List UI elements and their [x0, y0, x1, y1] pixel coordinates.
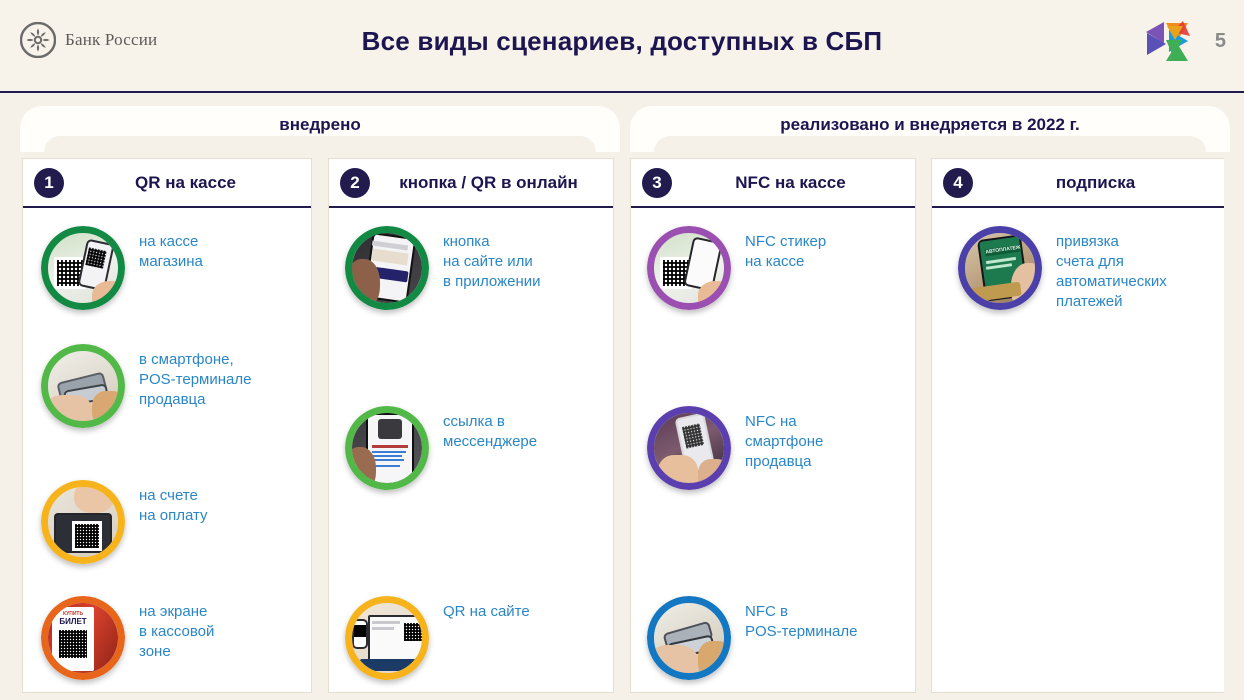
list-item-label: NFC в POS-терминале — [745, 602, 857, 642]
scenario-thumbnail-merchant-phone-nfc-tap — [647, 406, 731, 490]
list-item[interactable]: на кассе магазина — [41, 226, 203, 310]
list-item-label: привязка счета для автоматических платеж… — [1056, 232, 1167, 312]
group-label-inprogress: реализовано и внедряется в 2022 г. — [630, 112, 1230, 138]
group-label-implemented: внедрено — [20, 112, 620, 138]
list-item-label: на кассе магазина — [139, 232, 203, 272]
list-item-label: в смартфоне, POS-терминале продавца — [139, 350, 251, 410]
list-item[interactable]: в смартфоне, POS-терминале продавца — [41, 344, 251, 428]
scenario-card-nfc-at-checkout[interactable]: 3 NFC на кассе NFC стикер на кассе — [630, 158, 916, 693]
scenario-card-button-qr-online[interactable]: 2 кнопка / QR в онлайн — [328, 158, 614, 693]
scenario-thumbnail-pos-terminal-nfc-payment — [647, 596, 731, 680]
scenario-thumbnail-qr-code-on-paper-invoice — [41, 480, 125, 564]
page-title: Все виды сценариев, доступных в СБП — [0, 26, 1244, 57]
list-item[interactable]: NFC на смартфоне продавца — [647, 406, 823, 490]
list-item[interactable]: кнопка на сайте или в приложении — [345, 226, 541, 310]
card-title: QR на кассе — [64, 173, 311, 193]
list-item[interactable]: NFC в POS-терминале — [647, 596, 857, 680]
scenario-thumbnail-phone-and-pos-terminal-in-hands — [41, 344, 125, 428]
list-item[interactable]: ссылка в мессенджере — [345, 406, 537, 490]
list-item[interactable]: NFC стикер на кассе — [647, 226, 826, 310]
card-title: NFC на кассе — [672, 173, 915, 193]
card-number-badge: 1 — [34, 168, 64, 198]
header-divider — [0, 91, 1244, 93]
list-item[interactable]: QR на сайте — [345, 596, 530, 680]
card-title: кнопка / QR в онлайн — [370, 173, 613, 193]
card-number-badge: 3 — [642, 168, 672, 198]
list-item-label: NFC на смартфоне продавца — [745, 412, 823, 472]
scenario-thumbnail-phone-with-payment-link-in-messenger — [345, 406, 429, 490]
card-body: кнопка на сайте или в приложении — [329, 208, 613, 694]
list-item[interactable]: КУПИТЬ БИЛЕТ на экране в кассовой зоне — [41, 596, 214, 680]
card-number-badge: 4 — [943, 168, 973, 198]
scenario-thumbnail-buy-ticket-kiosk-screen-with-qr: КУПИТЬ БИЛЕТ — [41, 596, 125, 680]
list-item-label: NFC стикер на кассе — [745, 232, 826, 272]
card-body: на кассе магазина — [23, 208, 311, 694]
scenario-thumbnail-laptop-website-with-qr-code — [345, 596, 429, 680]
list-item-label: ссылка в мессенджере — [443, 412, 537, 452]
card-title: подписка — [973, 173, 1224, 193]
card-body: NFC стикер на кассе NFC на смартф — [631, 208, 915, 694]
list-item[interactable]: АВТОПЛАТЕЖ привязка счета для автоматиче… — [958, 226, 1167, 312]
slide-header: Банк России Все виды сценариев, доступны… — [0, 0, 1244, 92]
list-item-label: на экране в кассовой зоне — [139, 602, 214, 662]
list-item[interactable]: на счете на оплату — [41, 480, 208, 564]
card-number-badge: 2 — [340, 168, 370, 198]
card-header: 4 подписка — [932, 159, 1224, 208]
page-number: 5 — [1215, 30, 1226, 53]
slide-root: Банк России Все виды сценариев, доступны… — [0, 0, 1244, 700]
scenario-card-subscription[interactable]: 4 подписка АВТОПЛАТЕЖ — [931, 158, 1224, 693]
card-header: 1 QR на кассе — [23, 159, 311, 208]
sbp-pinwheel-logo-icon — [1142, 16, 1194, 66]
card-body: АВТОПЛАТЕЖ привязка счета для автоматиче… — [932, 208, 1224, 694]
list-item-label: кнопка на сайте или в приложении — [443, 232, 541, 292]
scenario-card-qr-at-checkout[interactable]: 1 QR на кассе на кассе м — [22, 158, 312, 693]
list-item-label: QR на сайте — [443, 602, 530, 622]
scenario-thumbnail-qr-code-and-phone-at-checkout — [41, 226, 125, 310]
scenario-thumbnail-phone-autopayment-green-screen: АВТОПЛАТЕЖ — [958, 226, 1042, 310]
card-header: 2 кнопка / QR в онлайн — [329, 159, 613, 208]
scenario-thumbnail-nfc-sticker-at-checkout-with-phone — [647, 226, 731, 310]
list-item-label: на счете на оплату — [139, 486, 208, 526]
scenario-thumbnail-phone-with-pay-button-in-app — [345, 226, 429, 310]
card-header: 3 NFC на кассе — [631, 159, 915, 208]
